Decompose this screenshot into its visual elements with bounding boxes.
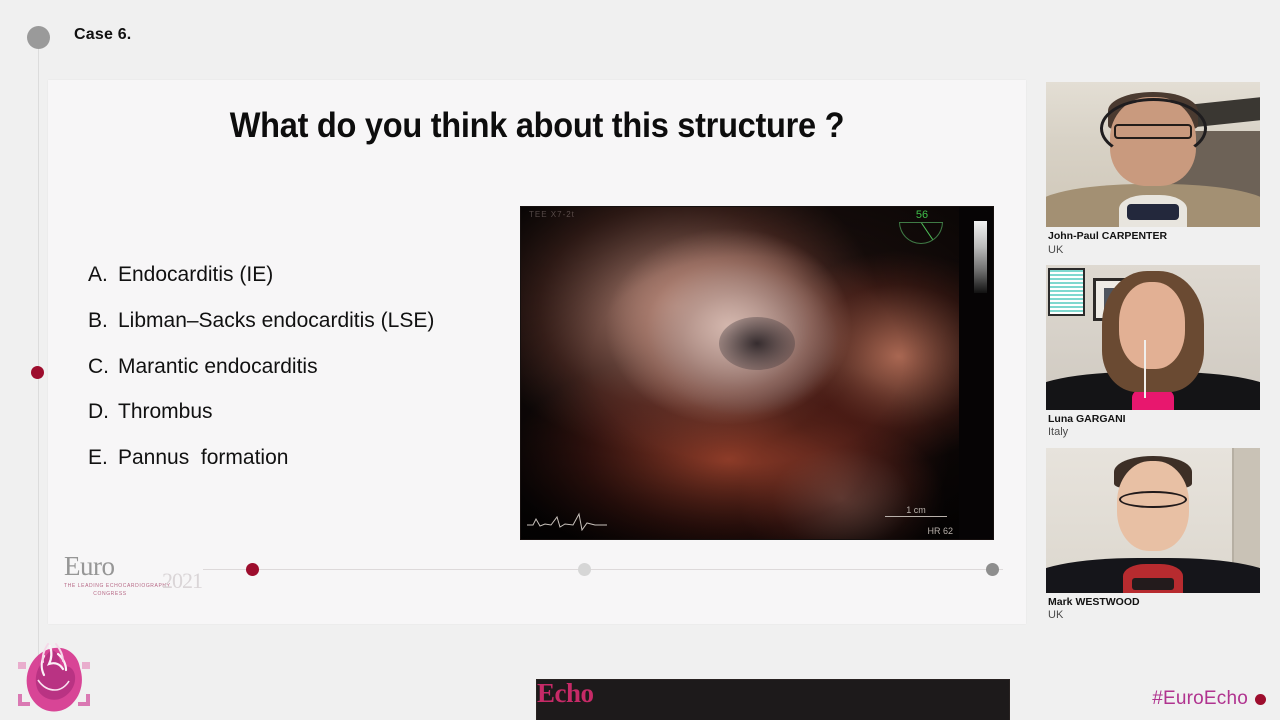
echo-scale-bar: 1 cm [885, 505, 947, 517]
heart-logo-icon [8, 636, 100, 718]
slide-heading: What do you think about this structure ? [82, 106, 992, 146]
probe-angle-gauge: 56 [895, 213, 949, 249]
participant-given-name: Mark [1048, 596, 1073, 608]
participant-given-name: John-Paul [1048, 230, 1099, 242]
option-label: Pannus formation [118, 446, 558, 471]
participant-meta: Mark WESTWOOD UK [1046, 593, 1260, 623]
slide-panel: What do you think about this structure ?… [48, 80, 1026, 624]
participant-tile[interactable]: Luna GARGANI Italy [1046, 265, 1260, 440]
progress-marker-2[interactable] [578, 563, 591, 576]
list-item[interactable]: E. Pannus formation [88, 446, 558, 471]
logo-word-echo: Echo [536, 679, 1010, 720]
echo-scale-label: 1 cm [906, 505, 926, 515]
probe-angle-value: 56 [895, 209, 949, 221]
page-title: Case 6. [74, 26, 131, 44]
avatar [1046, 448, 1260, 593]
option-label: Marantic endocarditis [118, 355, 558, 380]
echocardiogram-image: TEE X7-2t 56 1 cm HR 62 [520, 206, 994, 540]
participant-meta: John-Paul CARPENTER UK [1046, 227, 1260, 257]
participant-name: John-Paul CARPENTER [1048, 230, 1258, 243]
option-label: Libman–Sacks endocarditis (LSE) [118, 309, 558, 334]
slide-progress-rail[interactable] [203, 561, 1003, 577]
list-item[interactable]: B. Libman–Sacks endocarditis (LSE) [88, 309, 558, 334]
progress-track [203, 569, 1003, 570]
logo-year: 2021 [162, 568, 202, 594]
participant-country: Italy [1048, 426, 1258, 439]
echo-probe-label: TEE X7-2t [529, 210, 575, 219]
list-item[interactable]: A. Endocarditis (IE) [88, 263, 558, 288]
participant-name: Luna GARGANI [1048, 413, 1258, 426]
participant-video-feed[interactable] [1046, 265, 1260, 410]
logo-word-euro: Euro [64, 551, 114, 581]
participant-name: Mark WESTWOOD [1048, 596, 1258, 609]
echo-scale-line [885, 516, 947, 517]
participant-tile[interactable]: Mark WESTWOOD UK [1046, 448, 1260, 623]
participant-surname: WESTWOOD [1075, 596, 1139, 608]
gauge-arc [899, 222, 943, 244]
participant-meta: Luna GARGANI Italy [1046, 410, 1260, 440]
option-letter: D. [88, 400, 118, 425]
participant-video-list: John-Paul CARPENTER UK [1046, 82, 1260, 630]
progress-marker-1[interactable] [246, 563, 259, 576]
logo-tagline-line2: CONGRESS [64, 591, 156, 597]
timeline-marker-current[interactable] [31, 366, 44, 379]
vertical-timeline-line [38, 40, 39, 670]
event-hashtag: #EuroEcho [1152, 688, 1266, 710]
option-label: Thrombus [118, 400, 558, 425]
participant-surname: GARGANI [1076, 413, 1126, 425]
option-label: Endocarditis (IE) [118, 263, 558, 288]
participant-country: UK [1048, 244, 1258, 257]
hashtag-label: #EuroEcho [1152, 688, 1248, 710]
progress-marker-3[interactable] [986, 563, 999, 576]
presentation-viewer: Case 6. What do you think about this str… [0, 0, 1280, 720]
euroecho-logo: EuroEcho THE LEADING ECHOCARDIOGRAPHY CO… [64, 553, 200, 599]
echo-gain-colorbar [974, 221, 987, 293]
option-letter: A. [88, 263, 118, 288]
hashtag-dot-icon [1255, 694, 1266, 705]
avatar [1046, 265, 1260, 410]
ecg-trace-icon [527, 505, 607, 531]
timeline-marker-top[interactable] [27, 26, 50, 49]
list-item[interactable]: C. Marantic endocarditis [88, 355, 558, 380]
participant-video-feed[interactable] [1046, 448, 1260, 593]
participant-tile[interactable]: John-Paul CARPENTER UK [1046, 82, 1260, 257]
participant-surname: CARPENTER [1102, 230, 1167, 242]
option-letter: E. [88, 446, 118, 471]
heart-rate-readout: HR 62 [927, 526, 953, 536]
participant-given-name: Luna [1048, 413, 1073, 425]
echo-vignette [521, 207, 993, 539]
option-letter: C. [88, 355, 118, 380]
list-item[interactable]: D. Thrombus [88, 400, 558, 425]
option-letter: B. [88, 309, 118, 334]
participant-country: UK [1048, 609, 1258, 622]
answer-options-list: A. Endocarditis (IE) B. Libman–Sacks end… [88, 263, 558, 492]
avatar [1046, 82, 1260, 227]
participant-video-feed[interactable] [1046, 82, 1260, 227]
